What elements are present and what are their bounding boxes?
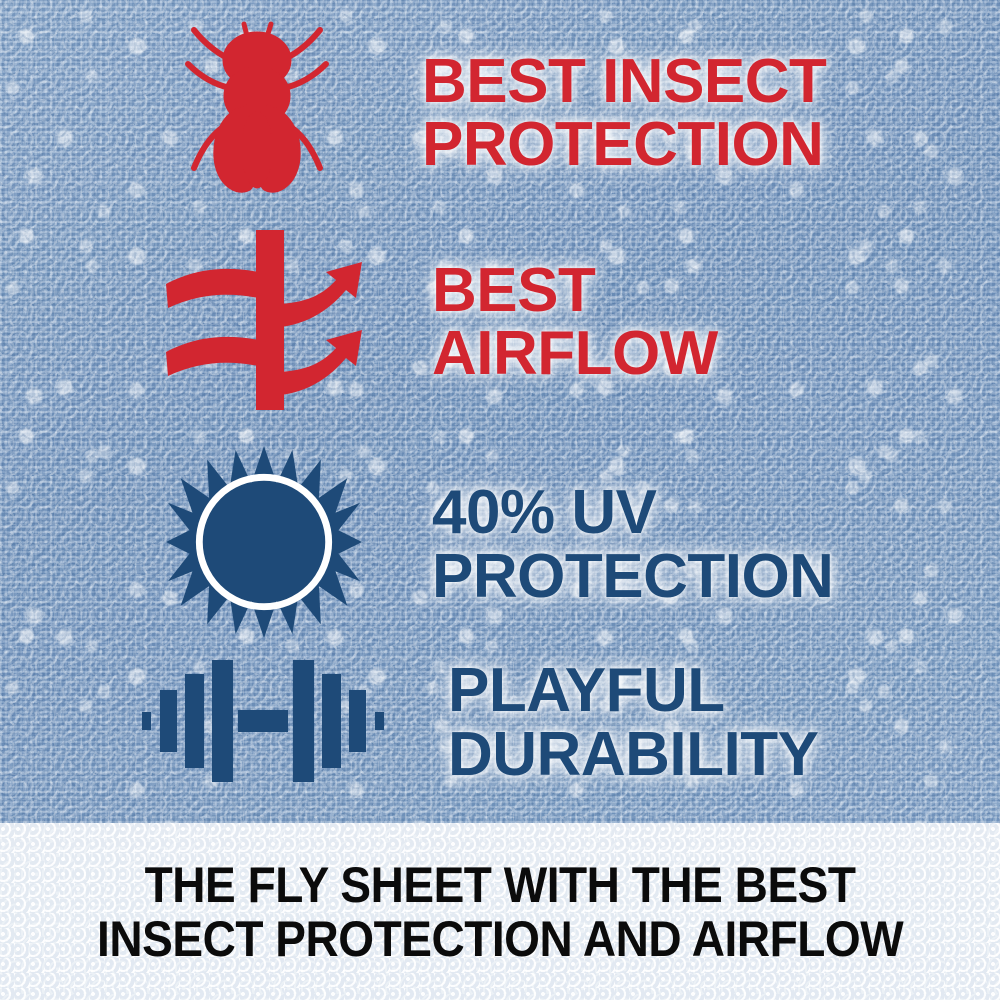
feature-label-airflow: BEST AIRFLOW: [432, 259, 718, 385]
feature-row-airflow: BEST AIRFLOW: [160, 222, 718, 422]
sun-icon: [166, 444, 362, 645]
fly-icon: [178, 18, 338, 208]
feature-row-uv-protection: 40% UV PROTECTION: [166, 444, 833, 645]
feature-label-durability: PLAYFUL DURABILITY: [448, 659, 818, 785]
product-feature-infographic: BEST INSECT PROTECTION BEST AIRFLO: [0, 0, 1000, 1000]
feature-label-insect-protection: BEST INSECT PROTECTION: [422, 50, 826, 176]
feature-label-uv-protection: 40% UV PROTECTION: [432, 481, 833, 607]
feature-row-durability: PLAYFUL DURABILITY: [140, 650, 818, 795]
bottom-banner: THE FLY SHEET WITH THE BEST INSECT PROTE…: [0, 823, 1000, 1000]
banner-tagline: THE FLY SHEET WITH THE BEST INSECT PROTE…: [97, 858, 903, 966]
feature-row-insect-protection: BEST INSECT PROTECTION: [178, 18, 826, 208]
dumbbell-icon: [140, 650, 386, 795]
airflow-arrows-icon: [160, 222, 370, 422]
